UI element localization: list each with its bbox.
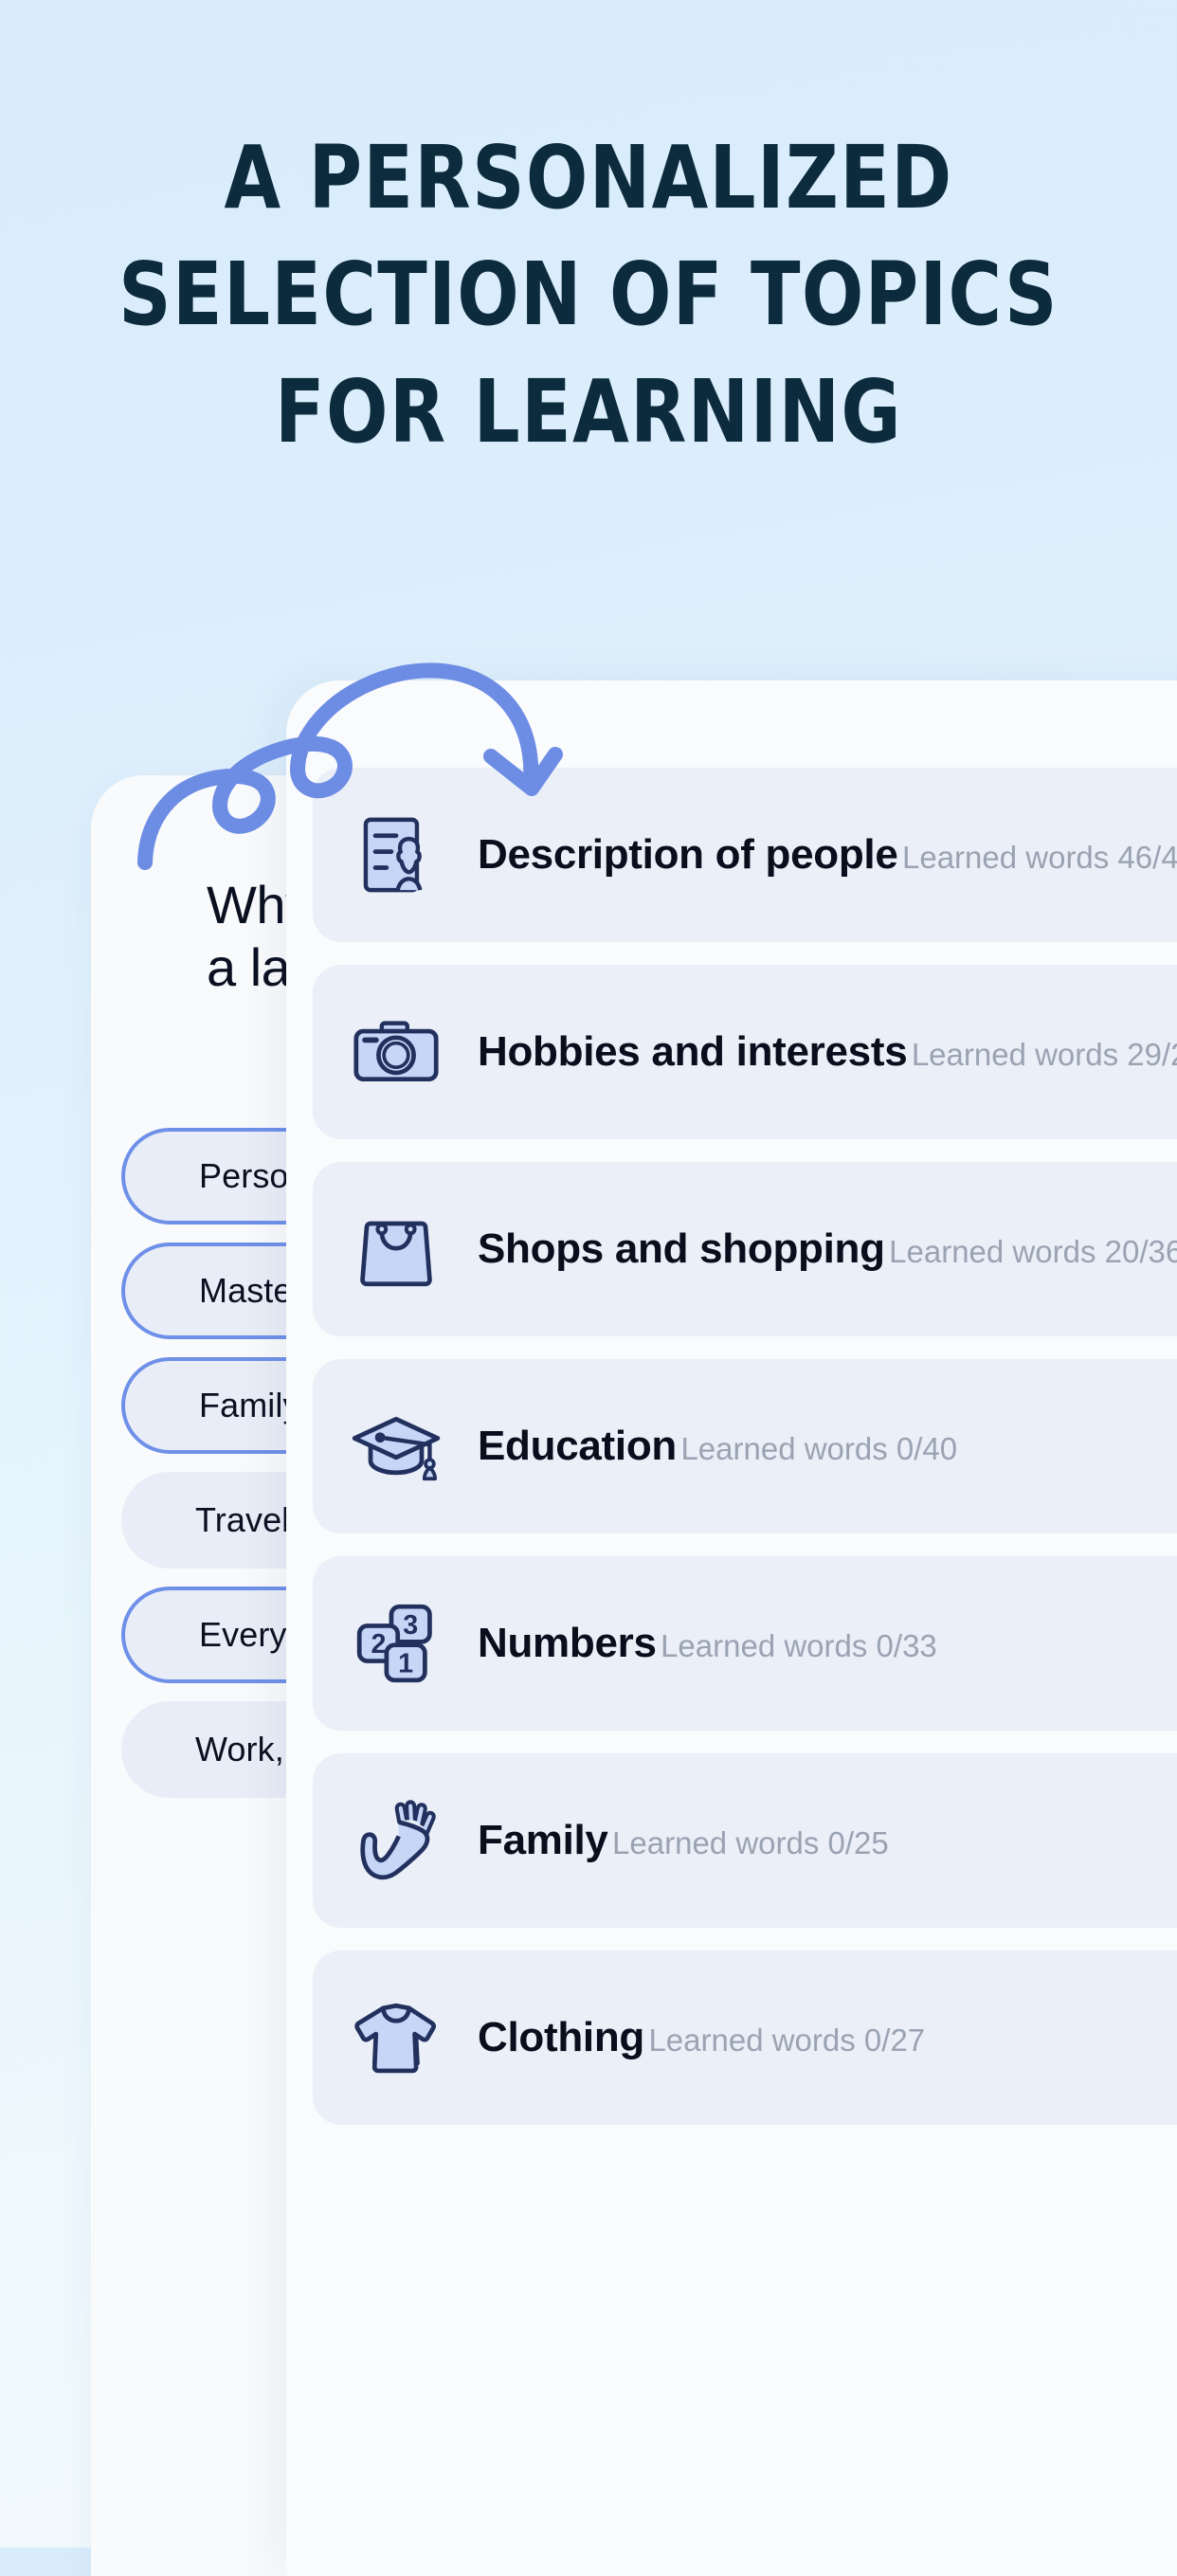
waving-arm-icon [345,1789,447,1892]
topic-card-description-of-people[interactable]: Description of people Learned words 46/4… [313,768,1177,942]
topic-card-hobbies-and-interests[interactable]: Hobbies and interests Learned words 29/2… [313,965,1177,1139]
topic-title: Hobbies and interests [478,1028,907,1075]
graduation-cap-icon [345,1395,447,1497]
topic-card-clothing[interactable]: Clothing Learned words 0/27 [313,1950,1177,2125]
topic-title: Family [478,1817,608,1863]
shopping-bag-icon [345,1198,447,1300]
sweater-icon [345,1986,447,2089]
topic-title: Education [478,1423,677,1469]
topic-list: Description of people Learned words 46/4… [313,768,1177,2148]
document-person-icon [345,804,447,906]
number-blocks-icon: 3 2 1 [345,1592,447,1695]
svg-text:2: 2 [371,1629,386,1660]
topic-progress: Learned words 0/25 [612,1825,889,1860]
page-title-line-1: A PERSONALIZED [41,119,1135,236]
page-title: A PERSONALIZED SELECTION OF TOPICS FOR L… [41,119,1135,470]
topic-title: Shops and shopping [478,1225,885,1272]
topic-progress: Learned words 29/29 [912,1037,1177,1072]
topic-progress: Learned words 0/27 [648,2023,925,2058]
topic-progress: Learned words 20/36 [889,1234,1177,1269]
topic-card-numbers[interactable]: 3 2 1 Numbers Learned words 0/33 [313,1556,1177,1731]
svg-text:1: 1 [398,1648,413,1678]
page-title-line-3: FOR LEARNING [41,354,1135,470]
topic-progress: Learned words 0/33 [661,1628,937,1663]
topic-title: Description of people [478,831,898,878]
topic-progress: Learned words 46/46 [902,840,1177,875]
topic-progress: Learned words 0/40 [680,1431,957,1466]
topic-card-education[interactable]: Education Learned words 0/40 [313,1359,1177,1533]
topic-card-shops-and-shopping[interactable]: Shops and shopping Learned words 20/36 [313,1162,1177,1336]
camera-icon [345,1001,447,1103]
topics-panel: Description of people Learned words 46/4… [286,680,1177,2576]
topic-card-family[interactable]: Family Learned words 0/25 [313,1753,1177,1928]
page-title-line-2: SELECTION OF TOPICS [41,236,1135,353]
topic-title: Numbers [478,1620,657,1666]
svg-text:3: 3 [403,1610,418,1641]
topic-title: Clothing [478,2014,644,2060]
